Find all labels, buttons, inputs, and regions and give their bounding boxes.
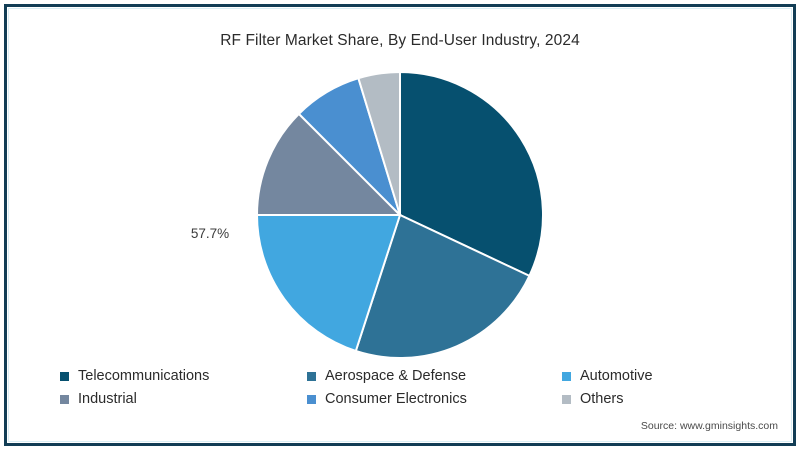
legend-row: Telecommunications Aerospace & Defense A… — [60, 368, 750, 384]
legend-row: Industrial Consumer Electronics Others — [60, 391, 750, 407]
legend-item-aerospace-defense[interactable]: Aerospace & Defense — [307, 368, 562, 384]
legend-swatch-icon — [60, 372, 69, 381]
chart-legend: Telecommunications Aerospace & Defense A… — [60, 368, 750, 414]
share-callout-label: 57.7% — [155, 226, 265, 241]
legend-item-label: Industrial — [78, 391, 137, 407]
legend-item-label: Others — [580, 391, 624, 407]
legend-swatch-icon — [562, 395, 571, 404]
legend-swatch-icon — [307, 395, 316, 404]
legend-item-others[interactable]: Others — [562, 391, 750, 407]
legend-swatch-icon — [307, 372, 316, 381]
legend-swatch-icon — [562, 372, 571, 381]
page-title: RF Filter Market Share, By End-User Indu… — [0, 32, 800, 50]
chart-figure: RF Filter Market Share, By End-User Indu… — [0, 0, 800, 450]
pie-slice-group — [257, 72, 543, 358]
pie-svg — [255, 70, 545, 360]
pie-chart — [255, 70, 545, 360]
legend-item-label: Aerospace & Defense — [325, 368, 466, 384]
legend-item-telecommunications[interactable]: Telecommunications — [60, 368, 307, 384]
legend-item-label: Consumer Electronics — [325, 391, 467, 407]
legend-item-industrial[interactable]: Industrial — [60, 391, 307, 407]
legend-swatch-icon — [60, 395, 69, 404]
source-attribution: Source: www.gminsights.com — [641, 420, 778, 432]
legend-item-automotive[interactable]: Automotive — [562, 368, 750, 384]
legend-item-consumer-electronics[interactable]: Consumer Electronics — [307, 391, 562, 407]
legend-item-label: Telecommunications — [78, 368, 209, 384]
legend-item-label: Automotive — [580, 368, 653, 384]
